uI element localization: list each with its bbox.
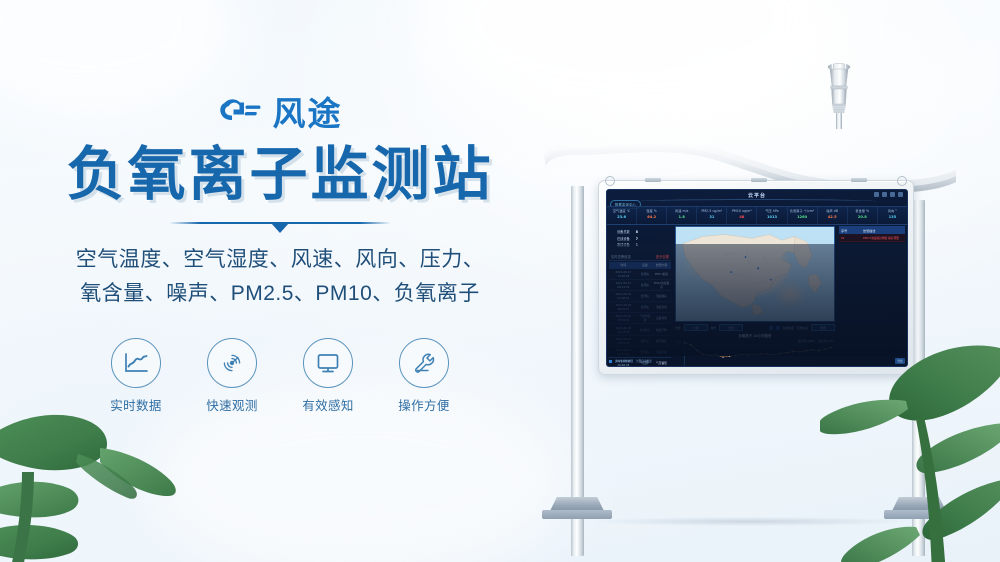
metric-value: 64.2 (637, 214, 666, 221)
metric-value: 48 (727, 214, 756, 221)
feature-label: 快速观测 (201, 395, 263, 414)
divider-triangle-icon (271, 223, 289, 233)
page-title: 负氧离子监测站 (0, 144, 560, 205)
parameter-list: 空气温度、空气湿度、风速、风向、压力、 氧含量、噪声、PM2.5、PM10、负氧… (0, 243, 560, 311)
stat-value: 8 (636, 229, 638, 236)
metric-card[interactable]: 氧含量 %20.8 (848, 207, 878, 224)
right-panel-header: 序号 告警描述 (839, 226, 905, 234)
mount-hook-icon (897, 176, 907, 186)
device-stat-row: 在线设备7 (617, 236, 671, 243)
footer-mid-text: 告警自动推送 (636, 359, 652, 363)
metric-card[interactable]: 噪声 dB42.5 (818, 207, 848, 224)
parameter-line-1: 空气温度、空气湿度、风速、风向、压力、 (0, 243, 560, 277)
brand-name: 风途 (273, 97, 343, 130)
metric-card[interactable]: 空气温度 ℃23.6 (607, 207, 637, 224)
metric-card[interactable]: 风向 °135 (878, 207, 907, 224)
wrench-tool-icon (411, 350, 437, 376)
right-col-index: 序号 (841, 228, 859, 233)
mount-hook-icon (605, 176, 615, 186)
metric-card[interactable]: PM10 ug/m³48 (727, 207, 757, 224)
stream-status-icon (609, 360, 612, 363)
right-col-desc: 告警描述 (863, 228, 875, 233)
wind-cloud-logo-icon (218, 96, 264, 130)
feature-icon-frame (303, 338, 353, 388)
metric-value: 42.5 (818, 214, 847, 221)
metric-label: 负氧离子 个/cm³ (788, 209, 817, 214)
right-row-desc: PM2.5浓度超过阈值 超标预警 (863, 236, 899, 240)
right-panel-row[interactable]: 01 PM2.5浓度超过阈值 超标预警 (839, 234, 905, 242)
feature-item-fast-observation: 快速观测 (201, 338, 263, 414)
metric-value: 20.8 (848, 214, 877, 221)
metric-card[interactable]: 湿度 %64.2 (637, 207, 667, 224)
stat-label: 设备总数 (617, 229, 630, 236)
metric-card[interactable]: 风速 m/s1.8 (667, 207, 697, 224)
stat-label: 在线设备 (617, 236, 630, 243)
right-row-index: 01 (841, 236, 859, 240)
brand-logo: 风途 (0, 96, 560, 130)
feature-label: 操作方便 (393, 395, 455, 414)
metric-value: 1013 (757, 214, 786, 221)
monitor-screen-icon (315, 351, 341, 375)
metric-value: 1.8 (667, 214, 696, 221)
poster-canvas: 风途 负氧离子监测站 空气温度、空气湿度、风速、风向、压力、 氧含量、噪声、PM… (0, 0, 1000, 562)
toolbar-icon[interactable] (882, 192, 887, 197)
toolbar-icon[interactable] (874, 192, 879, 197)
feature-label: 有效感知 (297, 395, 359, 414)
stat-value: 7 (636, 236, 638, 243)
feature-item-easy-operation: 操作方便 (393, 338, 455, 414)
metric-card[interactable]: PM2.5 ug/m³31 (697, 207, 727, 224)
decorative-leaf-right (820, 331, 1000, 562)
device-stat-row: 设备总数8 (617, 229, 671, 236)
metric-value: 23.6 (607, 214, 636, 221)
metric-label: PM2.5 ug/m³ (697, 209, 726, 214)
footer-left-text: 实时监控数据流 (615, 359, 633, 363)
toolbar-icon[interactable] (890, 192, 895, 197)
feature-icon-frame (399, 338, 449, 388)
mount-bracket (645, 178, 661, 182)
feature-item-effective-sensing: 有效感知 (297, 338, 359, 414)
mount-bracket (851, 178, 867, 182)
radar-signal-icon (219, 350, 245, 376)
dashboard-toolbar-icons[interactable] (874, 192, 903, 197)
metric-card[interactable]: 负氧离子 个/cm³1260 (788, 207, 818, 224)
title-divider (169, 219, 391, 233)
metric-value: 1260 (788, 214, 817, 221)
toolbar-icon[interactable] (898, 192, 903, 197)
dashboard-header-swoosh (637, 199, 877, 204)
metric-card[interactable]: 气压 hPa1013 (757, 207, 787, 224)
mount-bracket (751, 178, 767, 182)
parameter-line-2: 氧含量、噪声、PM2.5、PM10、负氧离子 (0, 277, 560, 311)
metric-strip: 空气温度 ℃23.6湿度 %64.2风速 m/s1.8PM2.5 ug/m³31… (607, 206, 907, 225)
dashboard-title: 云平台 (607, 192, 907, 199)
metric-value: 135 (878, 214, 907, 221)
feature-icon-frame (207, 338, 257, 388)
metric-value: 31 (697, 214, 726, 221)
decorative-leaf-left (0, 322, 192, 562)
base-plate-left (542, 510, 612, 519)
